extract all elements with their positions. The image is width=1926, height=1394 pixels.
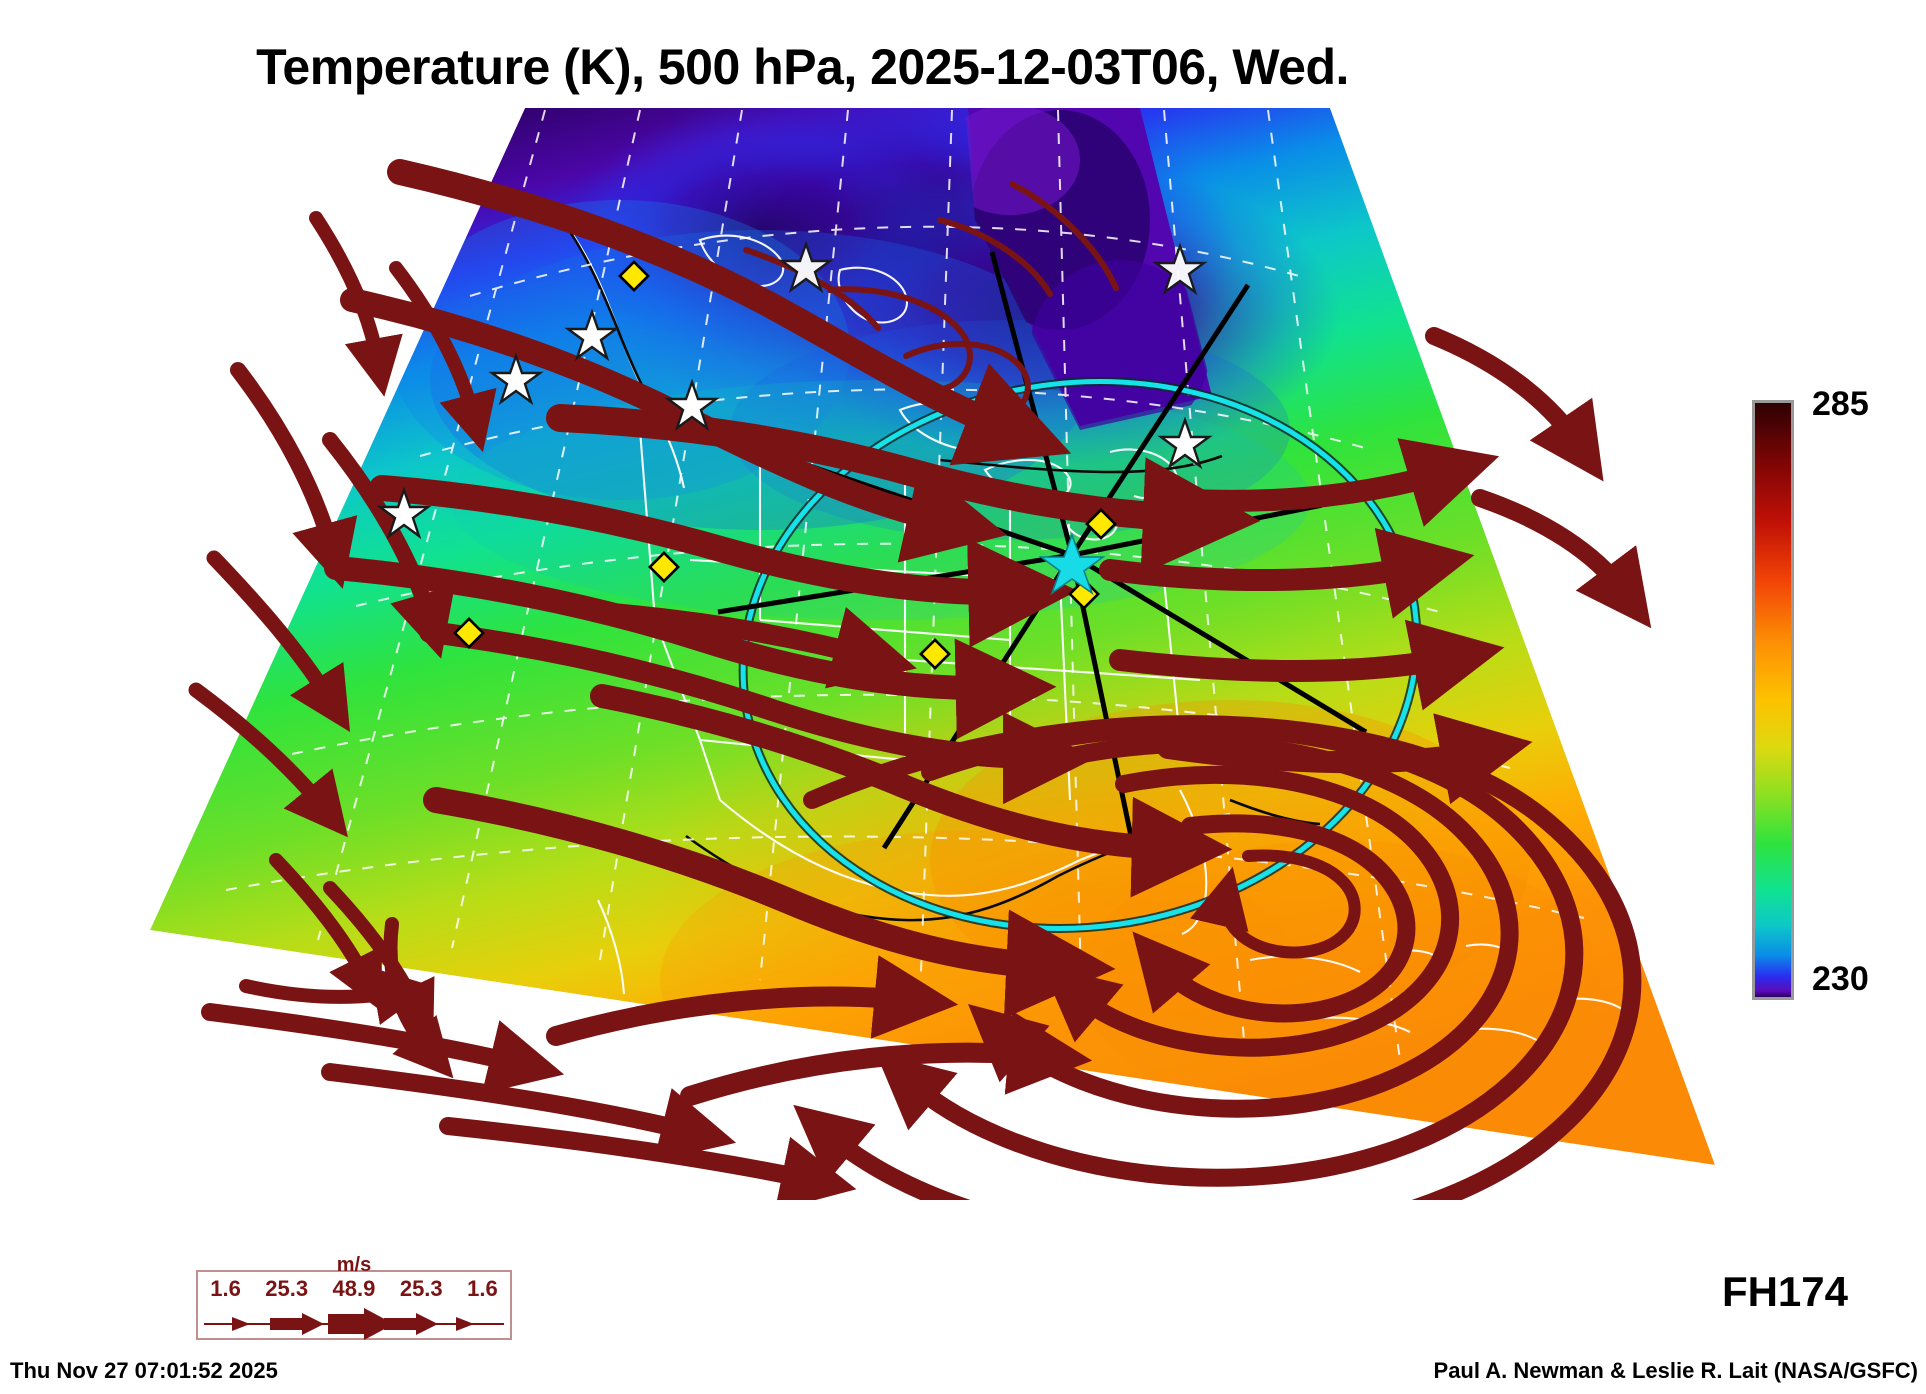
wind-speed-legend: m/s 1.6 25.3 48.9 25.3 1.6 xyxy=(196,1270,512,1340)
wind-tick-labels: 1.6 25.3 48.9 25.3 1.6 xyxy=(198,1276,510,1302)
map-svg[interactable] xyxy=(0,100,1780,1200)
wind-tick-2: 25.3 xyxy=(265,1276,308,1302)
wind-units-label: m/s xyxy=(198,1254,510,1277)
wind-tick-4: 25.3 xyxy=(400,1276,443,1302)
colorbar-min-label: 230 xyxy=(1812,960,1869,999)
colorbar[interactable] xyxy=(1752,400,1794,1000)
colorbar-gradient xyxy=(1755,403,1791,997)
page-title: Temperature (K), 500 hPa, 2025-12-03T06,… xyxy=(0,38,1605,96)
forecast-hour-label: FH174 xyxy=(1722,1268,1848,1316)
wind-arrow-scale xyxy=(198,1308,510,1340)
generation-timestamp: Thu Nov 27 07:01:52 2025 xyxy=(10,1358,278,1384)
wind-tick-3: 48.9 xyxy=(333,1276,376,1302)
author-credit: Paul A. Newman & Leslie R. Lait (NASA/GS… xyxy=(1434,1358,1918,1384)
map-panel[interactable] xyxy=(0,100,1780,1200)
wind-tick-5: 1.6 xyxy=(467,1276,498,1302)
figure-root: Temperature (K), 500 hPa, 2025-12-03T06,… xyxy=(0,0,1926,1394)
colorbar-max-label: 285 xyxy=(1812,385,1869,424)
wind-tick-1: 1.6 xyxy=(210,1276,241,1302)
